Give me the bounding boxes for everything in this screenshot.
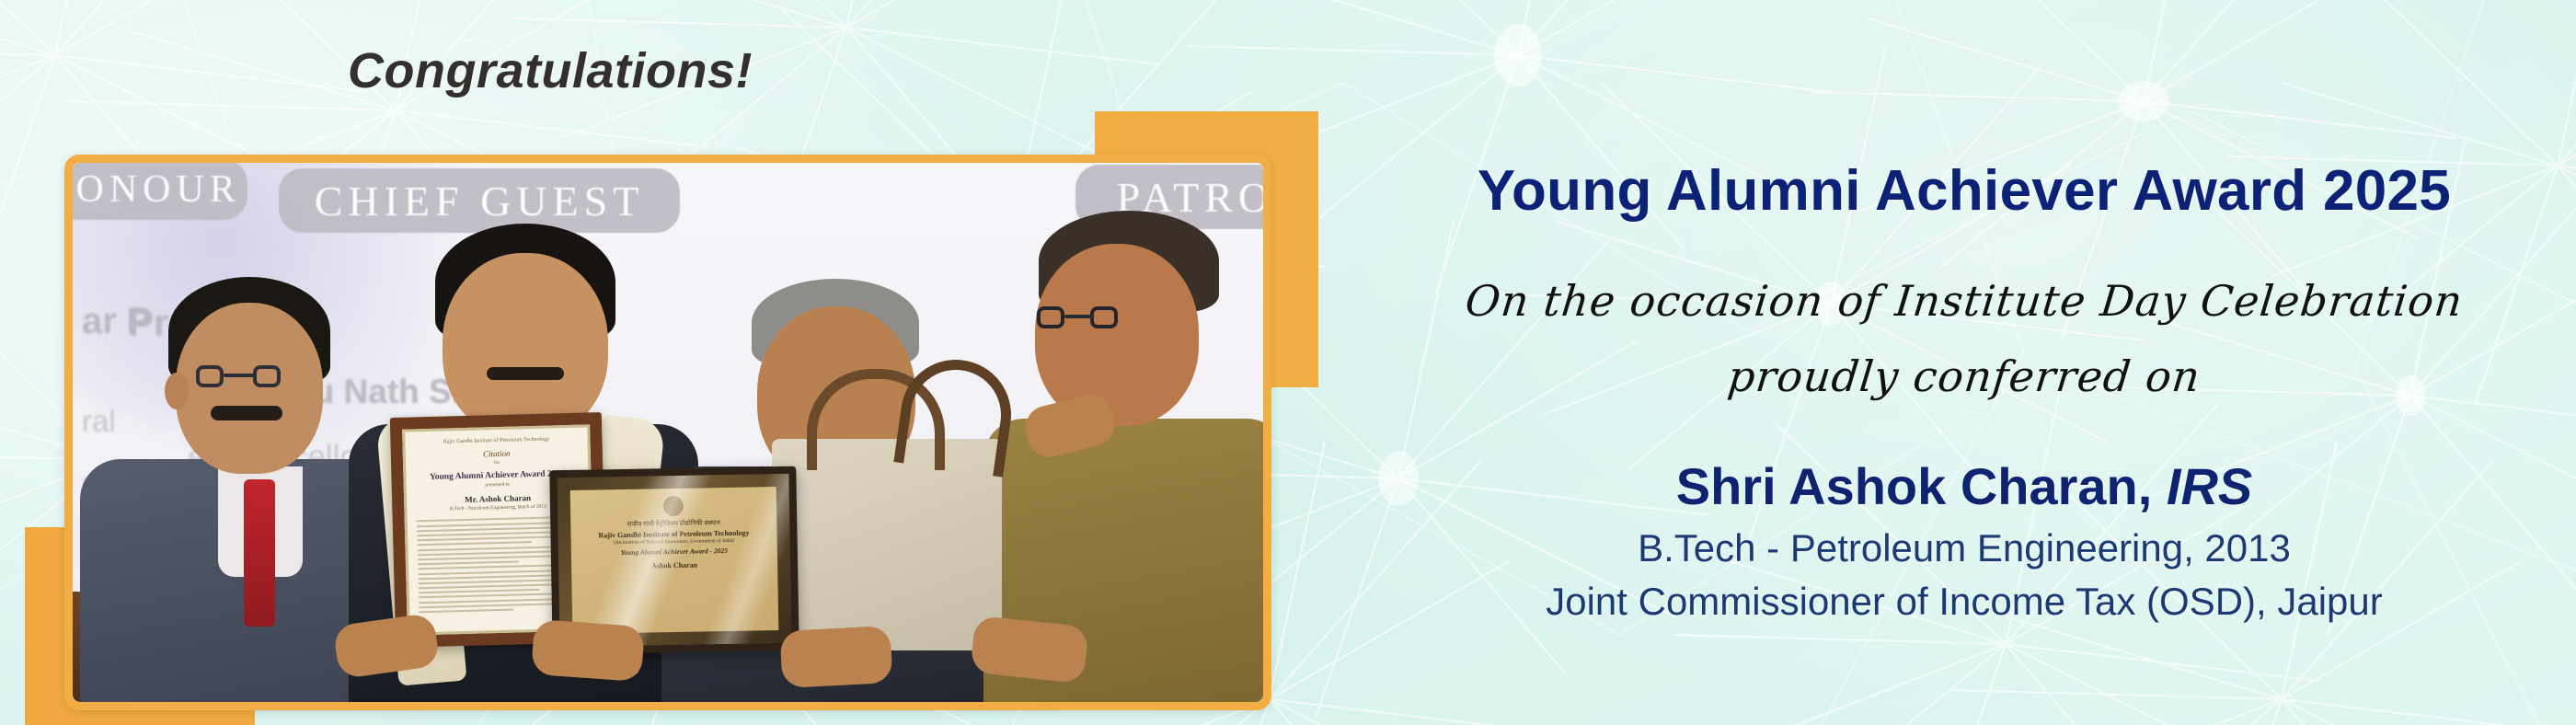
- award-banner: Congratulations! HONOUR CHIEF GUEST PATR…: [0, 0, 2576, 725]
- award-text-column: Young Alumni Achiever Award 2025 On the …: [1352, 0, 2576, 725]
- occasion-line-2: proudly conferred on: [1350, 351, 2576, 401]
- honoree-name: Shri Ashok Charan, IRS: [1352, 456, 2576, 516]
- eyeglasses-icon: [253, 365, 281, 387]
- eyeglasses-icon: [196, 365, 224, 387]
- hand: [779, 626, 892, 688]
- plaque-award-line: Young Alumni Achiever Award - 2025: [621, 547, 728, 557]
- ceremony-photo-card: HONOUR CHIEF GUEST PATRON ar P ral nce P…: [64, 155, 1271, 710]
- occasion-line-1: On the occasion of Institute Day Celebra…: [1350, 276, 2576, 326]
- plaque-status-line: (An Institute of National Importance, Go…: [614, 538, 734, 546]
- certificate-header: Rajiv Gandhi Institute of Petroleum Tech…: [414, 435, 578, 447]
- congratulations-heading: Congratulations!: [348, 42, 753, 99]
- hand: [970, 616, 1089, 685]
- plaque-name-line: Ashok Charan: [651, 561, 697, 570]
- honoree-name-text: Shri Ashok Charan,: [1676, 457, 2153, 515]
- award-title: Young Alumni Achiever Award 2025: [1352, 158, 2576, 224]
- plaque-hindi-line: राजीव गांधी पेट्रोलियम प्रौद्योगिकी संस्…: [627, 519, 720, 529]
- backdrop-pill-honour: HONOUR: [73, 163, 247, 220]
- eyeglasses-icon: [1090, 306, 1118, 328]
- eyeglasses-icon: [1037, 306, 1064, 328]
- ceremony-photo: HONOUR CHIEF GUEST PATRON ar P ral nce P…: [73, 163, 1263, 702]
- honoree-service-suffix: IRS: [2167, 457, 2252, 515]
- institute-emblem-icon: [663, 496, 684, 516]
- hand: [531, 619, 645, 682]
- honoree-degree: B.Tech - Petroleum Engineering, 2013: [1352, 526, 2576, 570]
- honoree-position: Joint Commissioner of Income Tax (OSD), …: [1352, 580, 2576, 624]
